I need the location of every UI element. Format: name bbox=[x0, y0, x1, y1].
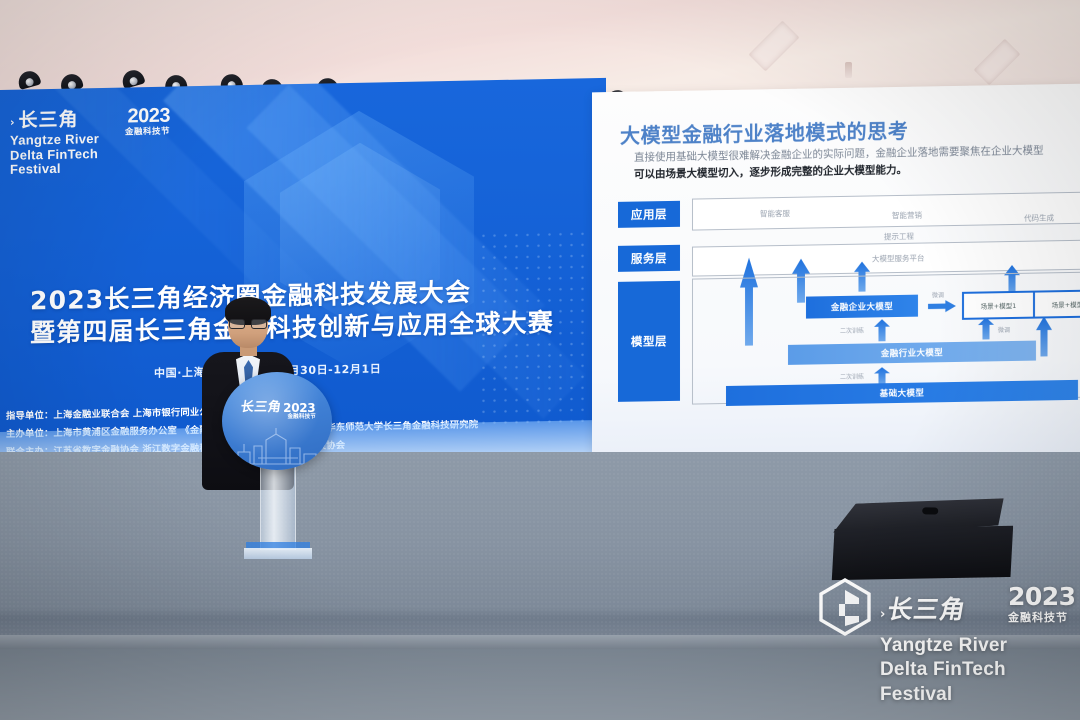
chevron-right-icon: › bbox=[10, 117, 16, 128]
slide-arrow-label-finetune: 微调 bbox=[998, 325, 1010, 334]
wall-sensor bbox=[845, 62, 852, 78]
slide-layer-tag-application: 应用层 bbox=[618, 201, 680, 228]
slide-layer-tag-model: 模型层 bbox=[618, 281, 680, 402]
monitor-handle bbox=[922, 507, 938, 514]
slide-app-item-1: 智能营销 bbox=[892, 210, 922, 222]
watermark-en-line3: Festival bbox=[880, 683, 1007, 707]
backdrop-logo-en: Yangtze River Delta FinTech Festival bbox=[10, 131, 170, 178]
slide-application-layer-box bbox=[692, 192, 1080, 231]
backdrop-festival-logo: › 长三角 2023 金融科技节 Yangtze River Delta Fin… bbox=[10, 109, 170, 178]
wall-diamond-panel bbox=[974, 39, 1021, 86]
watermark-year-block: 2023 金融科技节 bbox=[1008, 584, 1076, 623]
podium-logo-cn: 长三角 bbox=[239, 396, 282, 415]
watermark-cn-lockup: › 长三角 bbox=[880, 590, 966, 626]
slide-title: 大模型金融行业落地模式的思考 bbox=[620, 115, 908, 149]
presentation-slide: 大模型金融行业落地模式的思考 直接使用基础大模型很难解决金融企业的实际问题，金融… bbox=[592, 84, 1080, 475]
backdrop-location: 中国·上海 bbox=[154, 366, 205, 380]
conference-photo: › 长三角 2023 金融科技节 Yangtze River Delta Fin… bbox=[0, 0, 1080, 720]
slide-app-item-2: 代码生成 bbox=[1024, 212, 1054, 224]
stage-monitor-speaker bbox=[826, 495, 1017, 591]
watermark-year: 2023 bbox=[1008, 582, 1076, 611]
slide-model-enterprise: 金融企业大模型 bbox=[806, 295, 918, 319]
projection-screen: 大模型金融行业落地模式的思考 直接使用基础大模型很难解决金融企业的实际问题，金融… bbox=[592, 84, 1080, 475]
podium-stem bbox=[260, 458, 296, 550]
slide-arrow-label-finetune: 微调 bbox=[932, 290, 944, 299]
slide-arrow-label-retrain: 二次训练 bbox=[840, 372, 864, 381]
monitor-face bbox=[827, 519, 1016, 587]
slide-scene-model-0: 场景+模型1 bbox=[964, 293, 1033, 318]
slide-service-item-0: 提示工程 bbox=[884, 231, 914, 243]
watermark-cn-sub: 金融科技节 bbox=[1008, 612, 1076, 623]
watermark-en-line1: Yangtze River bbox=[880, 634, 1007, 658]
backdrop-logo-year: 2023 bbox=[128, 105, 171, 128]
podium-logo: 长三角 2023 金融科技节 bbox=[234, 396, 322, 415]
podium-base bbox=[244, 548, 312, 559]
backdrop-logo-cn-sub: 金融科技节 bbox=[125, 127, 170, 136]
backdrop-logo-year-block: 2023 金融科技节 bbox=[125, 106, 170, 136]
backdrop-logo-cn-text: 长三角 bbox=[19, 110, 79, 130]
speaker-glasses bbox=[229, 319, 267, 327]
watermark-en-lockup: Yangtze River Delta FinTech Festival bbox=[880, 634, 1007, 707]
slide-scene-model-boxes: 场景+模型1 场景+模型2 bbox=[962, 289, 1080, 320]
podium-logo-sub: 金融科技节 bbox=[287, 412, 316, 420]
slide-layer-tag-service: 服务层 bbox=[618, 245, 680, 272]
chevron-right-icon: › bbox=[880, 607, 885, 622]
podium-front-panel: 长三角 2023 金融科技节 bbox=[222, 372, 332, 470]
hexagon-logo-icon bbox=[818, 578, 872, 636]
festival-watermark: › 长三角 2023 金融科技节 Yangtze River Delta Fin… bbox=[818, 578, 1070, 710]
podium: 长三角 2023 金融科技节 bbox=[222, 372, 332, 560]
podium-skyline-graphic bbox=[228, 422, 326, 466]
watermark-cn-text: 长三角 bbox=[885, 590, 969, 626]
slide-arrow-label-retrain: 二次训练 bbox=[840, 326, 864, 335]
backdrop-title: 2023长三角经济圈金融科技发展大会 暨第四届长三角金融科技创新与应用全球大赛 bbox=[30, 275, 570, 349]
slide-service-item-1: 大模型服务平台 bbox=[872, 253, 925, 265]
slide-body: 直接使用基础大模型很难解决金融企业的实际问题，金融企业落地需要聚焦在企业大模型 … bbox=[634, 141, 1080, 184]
slide-app-item-0: 智能客服 bbox=[760, 208, 790, 220]
watermark-en-line2: Delta FinTech bbox=[880, 658, 1007, 682]
wall-diamond-panel bbox=[749, 21, 800, 72]
slide-scene-model-1: 场景+模型2 bbox=[1033, 291, 1080, 316]
